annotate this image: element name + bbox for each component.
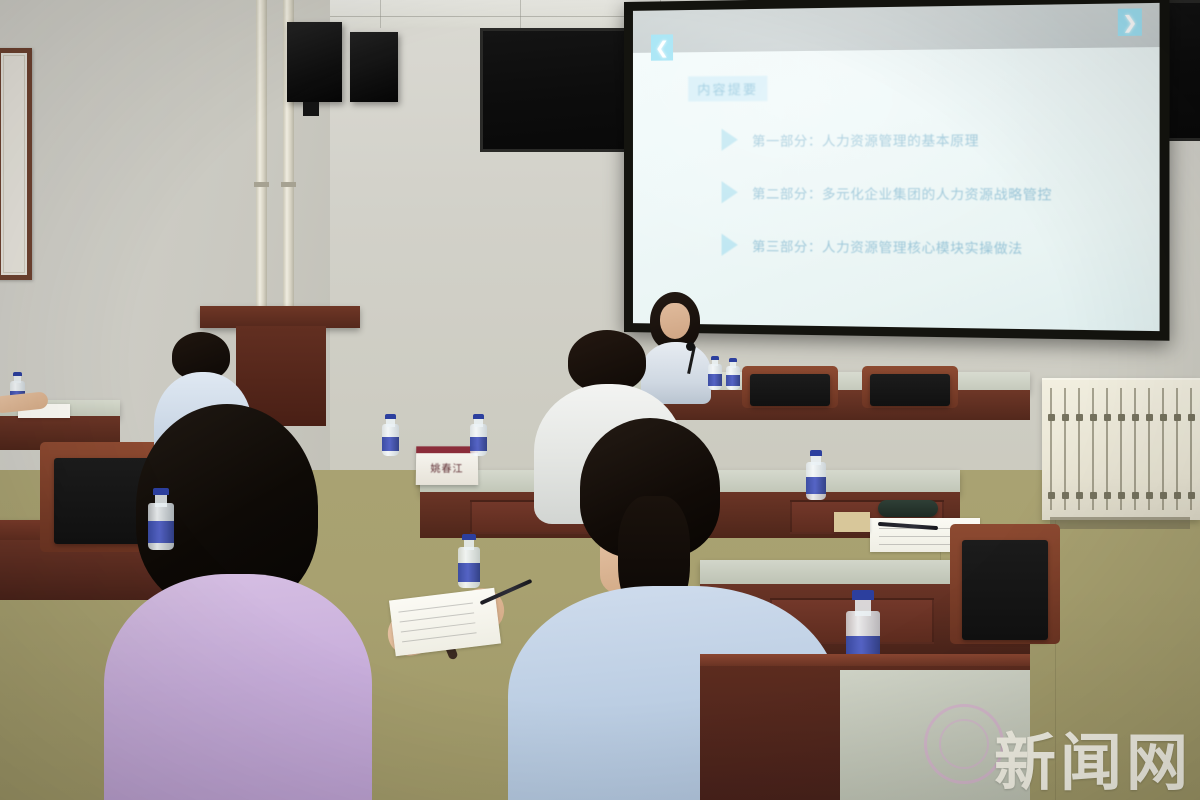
- water-bottle: [458, 534, 480, 588]
- radiator-shadow: [1050, 517, 1190, 529]
- water-bottle: [726, 358, 740, 390]
- slide-bullet-item: 第三部分：人力资源管理核心模块实操做法: [722, 234, 1138, 260]
- chair-seat: [870, 374, 950, 406]
- foreground-table-edge: [700, 654, 1030, 666]
- slide-bullet-text: 第一部分：人力资源管理的基本原理: [752, 129, 979, 149]
- slide-bullet-list: 第一部分：人力资源管理的基本原理 第二部分：多元化企业集团的人力资源战略管控 第…: [722, 127, 1138, 291]
- slide-prev-arrow-icon[interactable]: ❮: [651, 34, 673, 60]
- slide-next-arrow-icon[interactable]: ❯: [1118, 8, 1142, 36]
- watermark-seal-icon: [924, 704, 1004, 784]
- conference-room-photo: ❮ ❯ 内容提要 第一部分：人力资源管理的基本原理 第二部分：多元化企业集团的人…: [0, 0, 1200, 800]
- name-placard: 姚春江: [416, 446, 479, 485]
- projected-slide: ❮ ❯ 内容提要 第一部分：人力资源管理的基本原理 第二部分：多元化企业集团的人…: [633, 3, 1160, 331]
- slide-title: 内容提要: [688, 76, 767, 102]
- slide-bullet-text: 第三部分：人力资源管理核心模块实操做法: [752, 235, 1023, 257]
- ceiling-speaker: [350, 32, 398, 102]
- slide-bullet-text: 第二部分：多元化企业集团的人力资源战略管控: [752, 183, 1052, 203]
- slide-bullet-item: 第二部分：多元化企业集团的人力资源战略管控: [722, 181, 1138, 205]
- water-bottle: [470, 414, 487, 456]
- triangle-bullet-icon: [722, 234, 738, 256]
- triangle-bullet-icon: [722, 181, 738, 203]
- slide-top-bar: [633, 3, 1160, 53]
- wooden-podium: [200, 306, 360, 328]
- water-bottle: [708, 356, 722, 390]
- glasses-case: [878, 500, 938, 517]
- slide-bullet-item: 第一部分：人力资源管理的基本原理: [722, 127, 1138, 151]
- chair-seat: [962, 540, 1048, 640]
- chair-seat: [750, 374, 830, 406]
- watermark-text: 新闻网: [994, 732, 1192, 794]
- cast-iron-radiator: [1042, 378, 1200, 520]
- small-notebook: [834, 512, 870, 532]
- water-bottle: [148, 488, 174, 550]
- ceiling-speaker: [287, 22, 342, 102]
- triangle-bullet-icon: [722, 129, 738, 151]
- attendee-lavender-woman: [136, 404, 356, 800]
- framed-picture: [0, 48, 32, 280]
- attendee-torso: [104, 574, 372, 800]
- name-placard-text: 姚春江: [416, 460, 478, 475]
- projection-screen: ❮ ❯ 内容提要 第一部分：人力资源管理的基本原理 第二部分：多元化企业集团的人…: [624, 0, 1169, 341]
- water-bottle: [382, 414, 399, 456]
- attendee-hair: [568, 330, 646, 392]
- water-bottle: [806, 450, 826, 500]
